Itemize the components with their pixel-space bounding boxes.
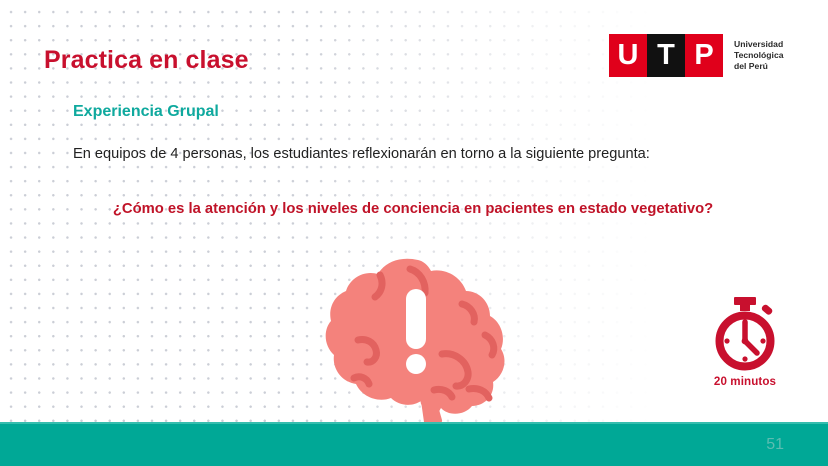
- stopwatch-icon: [707, 297, 783, 371]
- utp-logo-letter-u: U: [609, 34, 647, 77]
- section-subtitle: Experiencia Grupal: [73, 103, 219, 121]
- timer-label: 20 minutos: [697, 375, 793, 388]
- page-number: 51: [766, 436, 784, 454]
- timer-block: 20 minutos: [697, 297, 793, 388]
- slide-canvas: Practica en clase Experiencia Grupal En …: [0, 0, 828, 466]
- utp-logo-blocks: U T P: [609, 34, 723, 77]
- footer-bar: 51: [0, 422, 828, 466]
- brain-with-exclamation-icon: [322, 256, 508, 424]
- intro-paragraph: En equipos de 4 personas, los estudiante…: [73, 144, 749, 165]
- discussion-question: ¿Cómo es la atención y los niveles de co…: [78, 199, 748, 220]
- page-title: Practica en clase: [44, 46, 249, 75]
- utp-logo-wordmark: Universidad Tecnológica del Perú: [734, 39, 784, 72]
- utp-logo: U T P Universidad Tecnológica del Perú: [609, 34, 804, 77]
- utp-logo-letter-t: T: [647, 34, 685, 77]
- utp-logo-letter-p: P: [685, 34, 723, 77]
